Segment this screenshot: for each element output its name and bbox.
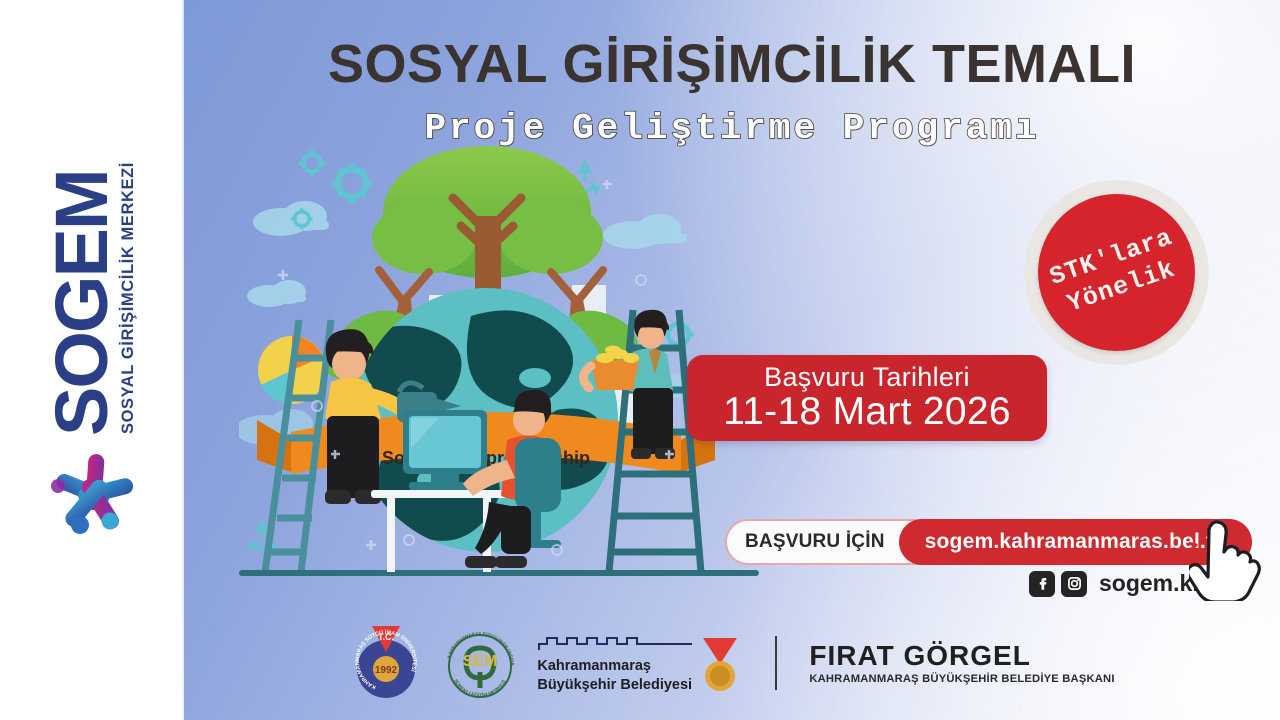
medal-icon xyxy=(697,636,743,694)
municipality-line-2: Büyükşehir Belediyesi xyxy=(537,676,695,694)
sogem-subtitle: SOSYAL GİRİŞİMCİLİK MERKEZİ xyxy=(120,162,137,434)
sogem-wordmark: SOGEM SOSYAL GİRİŞİMCİLİK MERKEZİ xyxy=(47,162,137,436)
left-brand-panel: SOGEM SOSYAL GİRİŞİMCİLİK MERKEZİ xyxy=(0,0,184,720)
poster-artwork: SOSYAL GİRİŞİMCİLİK TEMALI Proje Gelişti… xyxy=(184,0,1280,720)
instagram-icon[interactable] xyxy=(1061,571,1087,597)
apply-bar[interactable]: BAŞVURU İÇİN sogem.kahramanmaras.bel.tr xyxy=(725,519,1251,565)
mayor-name: FIRAT GÖRGEL xyxy=(809,641,1114,670)
application-dates-box: Başvuru Tarihleri 11-18 Mart 2026 xyxy=(687,355,1047,441)
apply-url: sogem.kahramanmaras.bel.tr xyxy=(925,530,1222,554)
municipality-line-1: Kahramanmaraş xyxy=(537,657,695,675)
sogem-star-mark-icon xyxy=(44,446,140,542)
dates-label: Başvuru Tarihleri xyxy=(764,363,970,391)
illustration: Social Entrepreneurship xyxy=(239,120,759,595)
sogem-word: SOGEM xyxy=(47,171,117,436)
municipality-logo: Kahramanmaraş Büyükşehir Belediyesi xyxy=(537,632,743,693)
university-seal-logo: T.C. 1992 KAHRAMANMARAŞ SÜTÇÜ İMAM ÜNİVE… xyxy=(349,624,423,702)
battlement-icon xyxy=(537,632,695,652)
pointing-hand-cursor-icon xyxy=(1189,515,1267,601)
ground-line xyxy=(239,570,759,576)
mayor-block: FIRAT GÖRGEL KAHRAMANMARAŞ BÜYÜKŞEHİR BE… xyxy=(809,641,1114,685)
dates-value: 11-18 Mart 2026 xyxy=(723,391,1011,433)
poster-stage: SOGEM SOSYAL GİRİŞİMCİLİK MERKEZİ SOSYAL… xyxy=(0,0,1280,720)
badge-text: STK'lara Yönelik xyxy=(1005,161,1227,383)
stk-badge: STK'lara Yönelik xyxy=(1029,185,1204,360)
facebook-icon[interactable] xyxy=(1029,571,1055,597)
partner-logo-strip: T.C. 1992 KAHRAMANMARAŞ SÜTÇÜ İMAM ÜNİVE… xyxy=(184,624,1280,702)
university-seal-year: 1992 xyxy=(375,665,398,676)
sem-logo: SEM KAHRAMANMARAŞ SÜTÇÜ İMAM ÜNİVERSİTES… xyxy=(441,624,519,702)
poster-headline: SOSYAL GİRİŞİMCİLİK TEMALI xyxy=(184,33,1280,95)
sem-mark-text: SEM xyxy=(463,653,498,670)
mayor-title: KAHRAMANMARAŞ BÜYÜKŞEHİR BELEDİYE BAŞKAN… xyxy=(809,673,1114,685)
sogem-logo: SOGEM SOSYAL GİRİŞİMCİLİK MERKEZİ xyxy=(44,162,140,542)
logo-divider xyxy=(775,636,777,690)
apply-label: BAŞVURU İÇİN xyxy=(745,531,885,553)
